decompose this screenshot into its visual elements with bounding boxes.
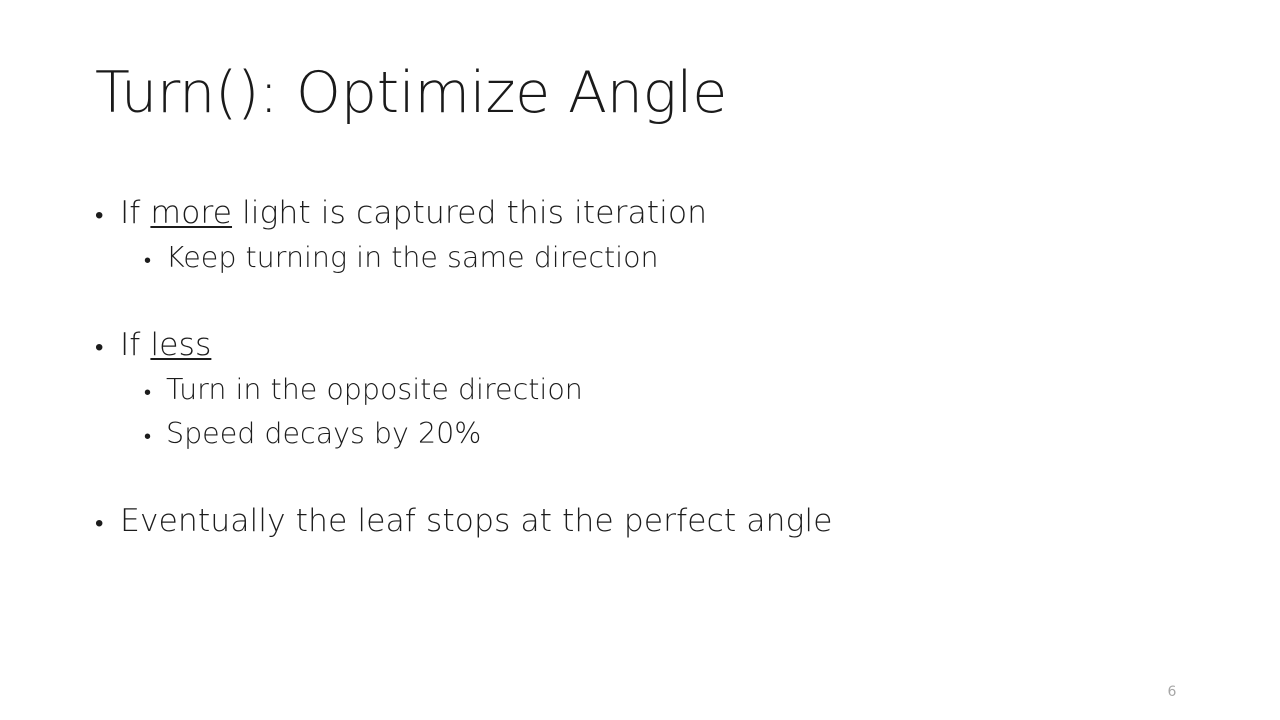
paragraph-spacer bbox=[95, 457, 1165, 500]
bullet-dot-icon: • bbox=[95, 194, 120, 237]
bullet-text-emphasis: less bbox=[150, 327, 211, 363]
bullet-item-text: Turn in the opposite direction bbox=[166, 369, 1165, 410]
slide-number: 6 bbox=[1152, 684, 1192, 700]
bullet-item-speed-decay: • Speed decays by 20% bbox=[95, 413, 1165, 457]
bullet-item-if-less: • If less bbox=[95, 324, 1165, 369]
bullet-dot-icon: • bbox=[95, 326, 120, 369]
bullet-dot-icon: • bbox=[144, 240, 166, 281]
presentation-slide: Turn(): Optimize Angle • If more light i… bbox=[0, 0, 1280, 720]
bullet-dot-icon: • bbox=[95, 502, 120, 545]
slide-body-content: • If more light is captured this iterati… bbox=[95, 192, 1165, 545]
bullet-item-keep-turning: • Keep turning in the same direction bbox=[95, 237, 1165, 281]
bullet-dot-icon: • bbox=[144, 372, 166, 413]
bullet-item-text: If less bbox=[120, 324, 1165, 367]
bullet-item-turn-opposite: • Turn in the opposite direction bbox=[95, 369, 1165, 413]
bullet-item-text: Speed decays by 20% bbox=[166, 413, 1165, 454]
bullet-dot-icon: • bbox=[144, 416, 166, 457]
slide-title: Turn(): Optimize Angle bbox=[95, 62, 1185, 126]
bullet-item-eventually-stops: • Eventually the leaf stops at the perfe… bbox=[95, 500, 1165, 545]
bullet-text-before: If bbox=[120, 195, 150, 231]
bullet-item-text: If more light is captured this iteration bbox=[120, 192, 1165, 235]
bullet-item-if-more: • If more light is captured this iterati… bbox=[95, 192, 1165, 237]
bullet-item-text: Keep turning in the same direction bbox=[166, 237, 1165, 278]
bullet-text-emphasis: more bbox=[150, 195, 232, 231]
bullet-text-after: light is captured this iteration bbox=[232, 195, 707, 231]
bullet-item-text: Eventually the leaf stops at the perfect… bbox=[120, 500, 1165, 543]
paragraph-spacer bbox=[95, 281, 1165, 324]
bullet-text-before: If bbox=[120, 327, 150, 363]
